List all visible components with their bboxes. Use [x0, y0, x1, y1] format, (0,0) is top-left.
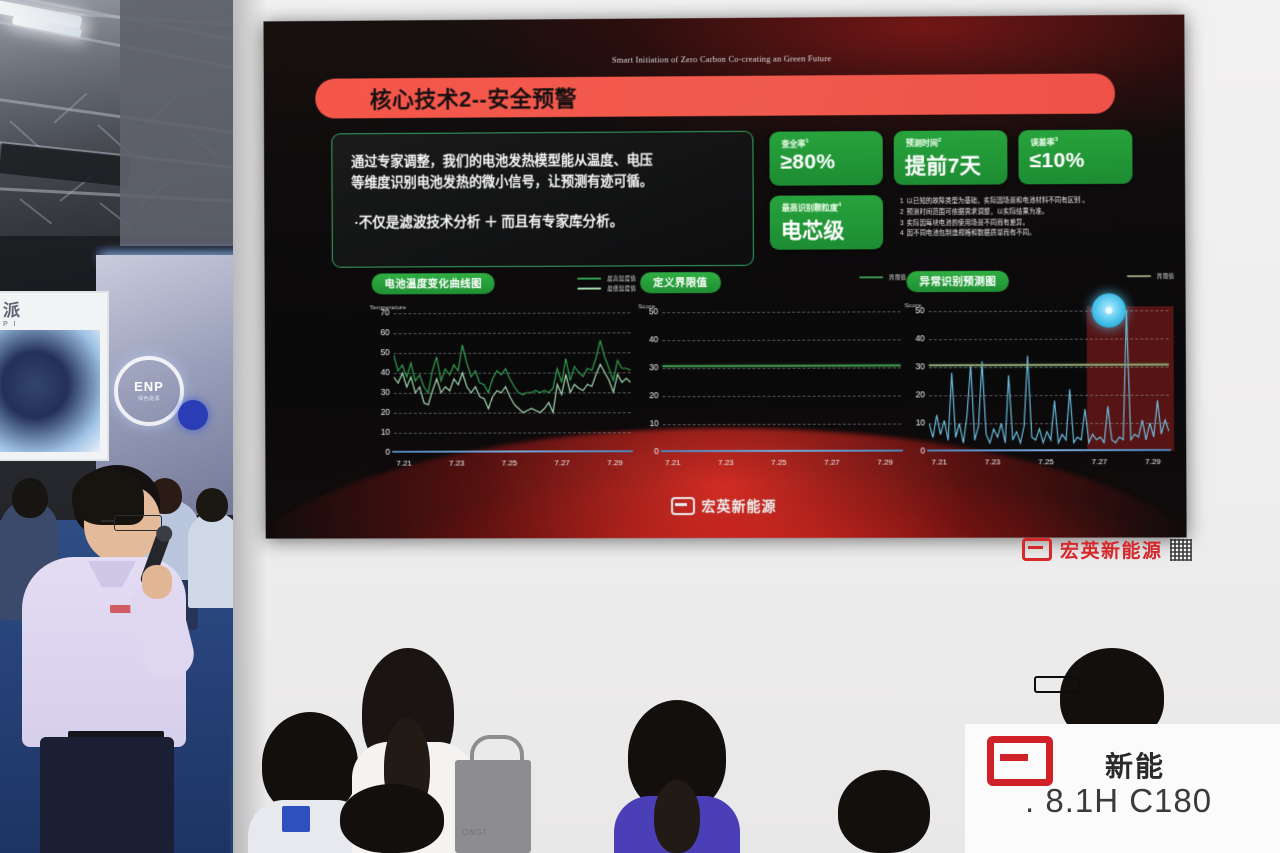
chart-y-tick: 30: [905, 361, 925, 371]
presentation-screen: Smart Initiation of Zero Carbon Co-creat…: [263, 15, 1186, 539]
chart-title-badge: 定义界限值: [640, 272, 720, 293]
chart-plot-area: 010203040507.217.237.257.277.29: [662, 311, 901, 452]
chart-x-tick: 7.29: [1145, 457, 1161, 466]
chart-series-line: [929, 310, 1169, 443]
chart-x-tick: 7.23: [449, 459, 465, 468]
chart-y-tick: 0: [905, 446, 925, 456]
chart-y-tick: 10: [905, 417, 925, 427]
chart-y-tick: 30: [638, 362, 658, 372]
chart-y-tick: 40: [905, 333, 925, 343]
kpi-value: 提前7天: [905, 149, 981, 180]
hongying-mark-icon: [1022, 538, 1052, 561]
presenter-hand: [142, 565, 172, 599]
booth-accent-circle: [178, 400, 208, 430]
chart-legend: 最高温度值 最低温度值: [577, 274, 636, 294]
hongying-mark-icon: [670, 497, 694, 515]
chart-x-tick: 7.27: [824, 458, 840, 467]
legend-item: 最低温度值: [577, 284, 636, 292]
kpi-value: 电芯级: [781, 214, 845, 244]
kpi-label: 最高识别颗粒度4: [782, 202, 842, 213]
chart-title-badge: 异常识别预测图: [906, 271, 1009, 293]
glasses-icon: [1034, 676, 1080, 693]
chart-y-tick: 50: [904, 305, 924, 315]
wall-brand-logo: 宏英新能源: [1022, 536, 1192, 563]
left-panel-product-image: [0, 330, 100, 452]
chart-series-layer: [662, 311, 901, 452]
chart-y-tick: 60: [370, 327, 390, 337]
chart-series-layer: [929, 310, 1169, 451]
kpi-value: ≥80%: [780, 150, 835, 174]
chart-legend: 界限值: [1126, 272, 1174, 282]
chart-x-tick: 7.27: [1092, 457, 1108, 466]
slide-brand-name: 宏英新能源: [701, 496, 776, 516]
tote-bag-label: ONGI: [462, 828, 486, 837]
chart-x-tick: 7.21: [665, 458, 681, 467]
chart-battery-temperature: 电池温度变化曲线图 最高温度值 最低温度值 Temperature 010203…: [368, 272, 639, 484]
chart-y-tick: 0: [639, 446, 659, 456]
hongying-mark-icon: [987, 736, 1053, 786]
chart-y-tick: 20: [639, 390, 659, 400]
chart-y-tick: 0: [370, 447, 390, 457]
chart-x-tick: 7.27: [554, 458, 570, 467]
chart-x-tick: 7.21: [931, 458, 947, 467]
chart-x-tick: 7.29: [877, 458, 893, 467]
chart-series-line: [394, 340, 631, 395]
footnote-item: 4因不同电池包制造规格和数据质量而有不同。: [900, 228, 1134, 240]
slide-description: 通过专家调整，我们的电池发热模型能从温度、电压 等维度识别电池发热的微小信号，让…: [351, 149, 735, 194]
chart-y-tick: 20: [370, 407, 390, 417]
slide-description-bullet: ·不仅是滤波技术分析 ＋ 而且有专家库分析。: [354, 210, 744, 234]
chart-y-tick: 30: [370, 387, 390, 397]
badge-lanyard: [282, 806, 310, 832]
booth-sign-partial-text: 新能: [1105, 745, 1165, 785]
chart-x-tick: 7.23: [718, 458, 734, 467]
slide-brand-logo: 宏英新能源: [266, 495, 1187, 517]
glasses-icon: [114, 515, 162, 531]
legend-item: 最高温度值: [577, 274, 636, 282]
chart-series-layer: [394, 312, 631, 452]
kpi-label: 查全率1: [781, 138, 808, 149]
chart-x-tick: 7.25: [771, 458, 787, 467]
chart-legend: 界限值: [859, 273, 907, 283]
exhibition-photo: ENP 绿色能源 派 P I Smart Initiation of Zero …: [0, 0, 1280, 853]
slide-title-banner: 核心技术2--安全预警: [315, 73, 1115, 118]
chart-x-tick: 7.25: [502, 458, 518, 467]
legend-item: 界限值: [859, 273, 907, 281]
kpi-label: 预测时间2: [906, 138, 942, 149]
chart-x-tick: 7.25: [1038, 457, 1054, 466]
chart-y-tick: 10: [370, 427, 390, 437]
enp-logo-subtext: 绿色能源: [138, 395, 160, 402]
chart-y-tick: 50: [638, 306, 658, 316]
chart-anomaly-prediction: 异常识别预测图 界限值 Score 010203040507.217.237.2…: [902, 270, 1177, 484]
presenter: [18, 465, 208, 853]
slide-title: 核心技术2--安全预警: [370, 81, 577, 114]
chart-x-tick: 7.23: [985, 457, 1001, 466]
kpi-label: 误差率3: [1030, 137, 1058, 148]
kpi-card-error-rate: 误差率3 ≤10%: [1018, 129, 1132, 184]
chart-y-tick: 20: [905, 389, 925, 399]
chart-title-badge: 电池温度变化曲线图: [372, 273, 495, 294]
chart-y-tick: 40: [638, 334, 658, 344]
slide-footnotes: 1以已知的故障类型为基础，实际因场景和电池材料不同有区别 。 2预测时间范围可依…: [900, 196, 1134, 241]
left-panel-brand: 派 P I: [3, 296, 20, 328]
enp-logo: ENP 绿色能源: [114, 356, 184, 426]
kpi-card-recall: 查全率1 ≥80%: [769, 131, 882, 186]
wall-brand-name: 宏英新能源: [1060, 536, 1163, 563]
kpi-card-lead-time: 预测时间2 提前7天: [894, 130, 1008, 185]
enp-logo-text: ENP: [134, 380, 164, 393]
wall-shadow: [233, 0, 267, 853]
chart-y-tick: 50: [370, 347, 390, 357]
presenter-trousers: [40, 737, 174, 853]
chart-plot-area: 0102030405060707.217.237.257.277.29: [394, 312, 631, 452]
legend-item: 界限值: [1126, 272, 1174, 280]
chart-y-tick: 10: [639, 418, 659, 428]
chart-plot-area: 010203040507.217.237.257.277.29: [929, 310, 1169, 451]
tote-bag: [455, 760, 531, 853]
slide-description-box: 通过专家调整，我们的电池发热模型能从温度、电压 等维度识别电池发热的微小信号，让…: [331, 131, 754, 268]
chart-y-tick: 40: [370, 367, 390, 377]
chart-x-tick: 7.21: [396, 459, 411, 468]
kpi-value: ≤10%: [1030, 149, 1085, 173]
booth-sign-code: . 8.1H C180: [1025, 782, 1212, 820]
chart-x-tick: 7.29: [607, 458, 623, 467]
kpi-card-granularity: 最高识别颗粒度4 电芯级: [770, 195, 883, 250]
chart-anomaly-marker[interactable]: [1091, 293, 1125, 327]
qr-code-icon: [1170, 539, 1192, 561]
chart-y-tick: 70: [370, 307, 390, 317]
chart-threshold-definition: 定义界限值 界限值 Score 010203040507.217.237.257…: [636, 271, 909, 484]
